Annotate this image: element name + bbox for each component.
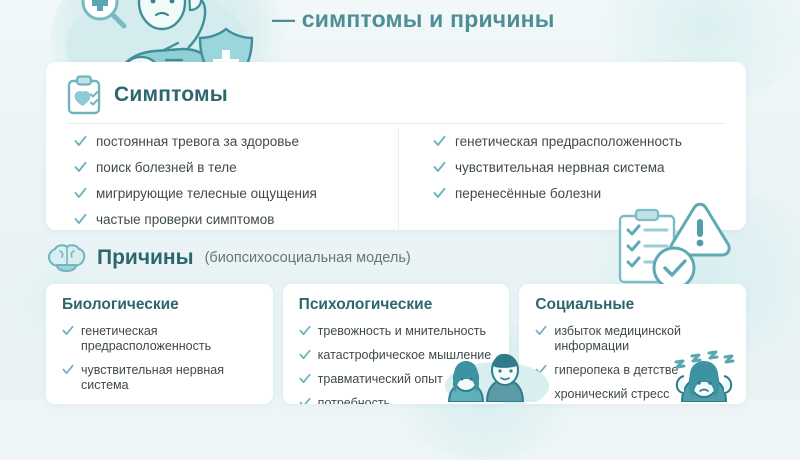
check-icon — [535, 325, 547, 337]
check-icon — [62, 325, 74, 337]
list-item-label: мигрирующие телесные ощущения — [96, 186, 317, 202]
symptoms-header: Симптомы — [46, 62, 746, 114]
check-icon — [62, 364, 74, 376]
list-item-label: гиперопека в детстве — [554, 363, 678, 378]
brain-icon — [46, 243, 86, 273]
check-icon — [74, 135, 87, 148]
symptoms-divider — [66, 123, 726, 124]
list-item: тревожность и мнительность — [299, 324, 496, 339]
list-item: гиперопека в детстве — [535, 363, 732, 378]
list-item-label: поиск болезней в теле — [96, 160, 237, 176]
list-item: чувствительная нервная система — [433, 160, 746, 176]
check-icon — [74, 161, 87, 174]
list-item: чувствительная нервная система — [62, 363, 259, 393]
list-item: избыток медицинской информации — [535, 324, 732, 354]
page-title: — симптомы и причины — [272, 6, 555, 33]
list-item-label: постоянная тревога за здоровье — [96, 134, 299, 150]
check-icon — [433, 187, 446, 200]
causes-heading: Причины — [97, 246, 194, 270]
list-item-label: чувствительная нервная система — [81, 363, 259, 393]
cause-card-title: Социальные — [535, 296, 732, 314]
check-icon — [535, 364, 547, 376]
list-item: перенесённые болезни — [433, 186, 746, 202]
list-item-label: потребность — [318, 396, 390, 404]
symptoms-right-column: генетическая предрасположенность чувстви… — [398, 128, 746, 238]
list-item-label: генетическая предрасположенность — [455, 134, 682, 150]
list-item-label: перенесённые болезни — [455, 186, 601, 202]
cause-card-title: Психологические — [299, 296, 496, 314]
clipboard-heart-icon — [66, 75, 102, 115]
list-item: поиск болезней в теле — [74, 160, 398, 176]
causes-subtitle: (биопсихосоциальная модель) — [205, 250, 411, 266]
cause-card-biological: Биологические генетическая предрасположе… — [46, 284, 273, 404]
list-item: катастрофическое мышление — [299, 348, 496, 363]
symptoms-heading: Симптомы — [114, 83, 228, 107]
check-icon — [433, 161, 446, 174]
check-icon — [299, 397, 311, 404]
list-item-label: чувствительная нервная система — [455, 160, 665, 176]
check-icon — [299, 349, 311, 361]
check-icon — [535, 388, 547, 400]
symptoms-columns: постоянная тревога за здоровье поиск бол… — [46, 128, 746, 238]
causes-header: Причины (биопсихосоциальная модель) — [46, 243, 411, 273]
check-icon — [299, 325, 311, 337]
list-item: постоянная тревога за здоровье — [74, 134, 398, 150]
symptoms-left-column: постоянная тревога за здоровье поиск бол… — [46, 128, 398, 238]
list-item-label: избыток медицинской информации — [554, 324, 732, 354]
list-item: генетическая предрасположенность — [62, 324, 259, 354]
symptoms-card: Симптомы постоянная тревога за здоровье … — [46, 62, 746, 230]
check-icon — [433, 135, 446, 148]
cause-card-psychological: Психологические тревожность и мнительнос… — [283, 284, 510, 404]
list-item: частые проверки симптомов — [74, 212, 398, 228]
list-item: мигрирующие телесные ощущения — [74, 186, 398, 202]
list-item-label: частые проверки симптомов — [96, 212, 274, 228]
list-item: травматический опыт — [299, 372, 496, 387]
check-icon — [74, 213, 87, 226]
cause-card-social: Социальные избыток медицинской информаци… — [519, 284, 746, 404]
list-item: генетическая предрасположенность — [433, 134, 746, 150]
header: — симптомы и причины — [0, 0, 800, 70]
check-icon — [299, 373, 311, 385]
causes-columns: Биологические генетическая предрасположе… — [46, 284, 746, 404]
list-item-label: тревожность и мнительность — [318, 324, 486, 339]
cause-card-title: Биологические — [62, 296, 259, 314]
list-item-label: генетическая предрасположенность — [81, 324, 259, 354]
check-icon — [74, 187, 87, 200]
list-item-label: травматический опыт — [318, 372, 443, 387]
list-item-label: катастрофическое мышление — [318, 348, 492, 363]
list-item: потребность — [299, 396, 496, 404]
